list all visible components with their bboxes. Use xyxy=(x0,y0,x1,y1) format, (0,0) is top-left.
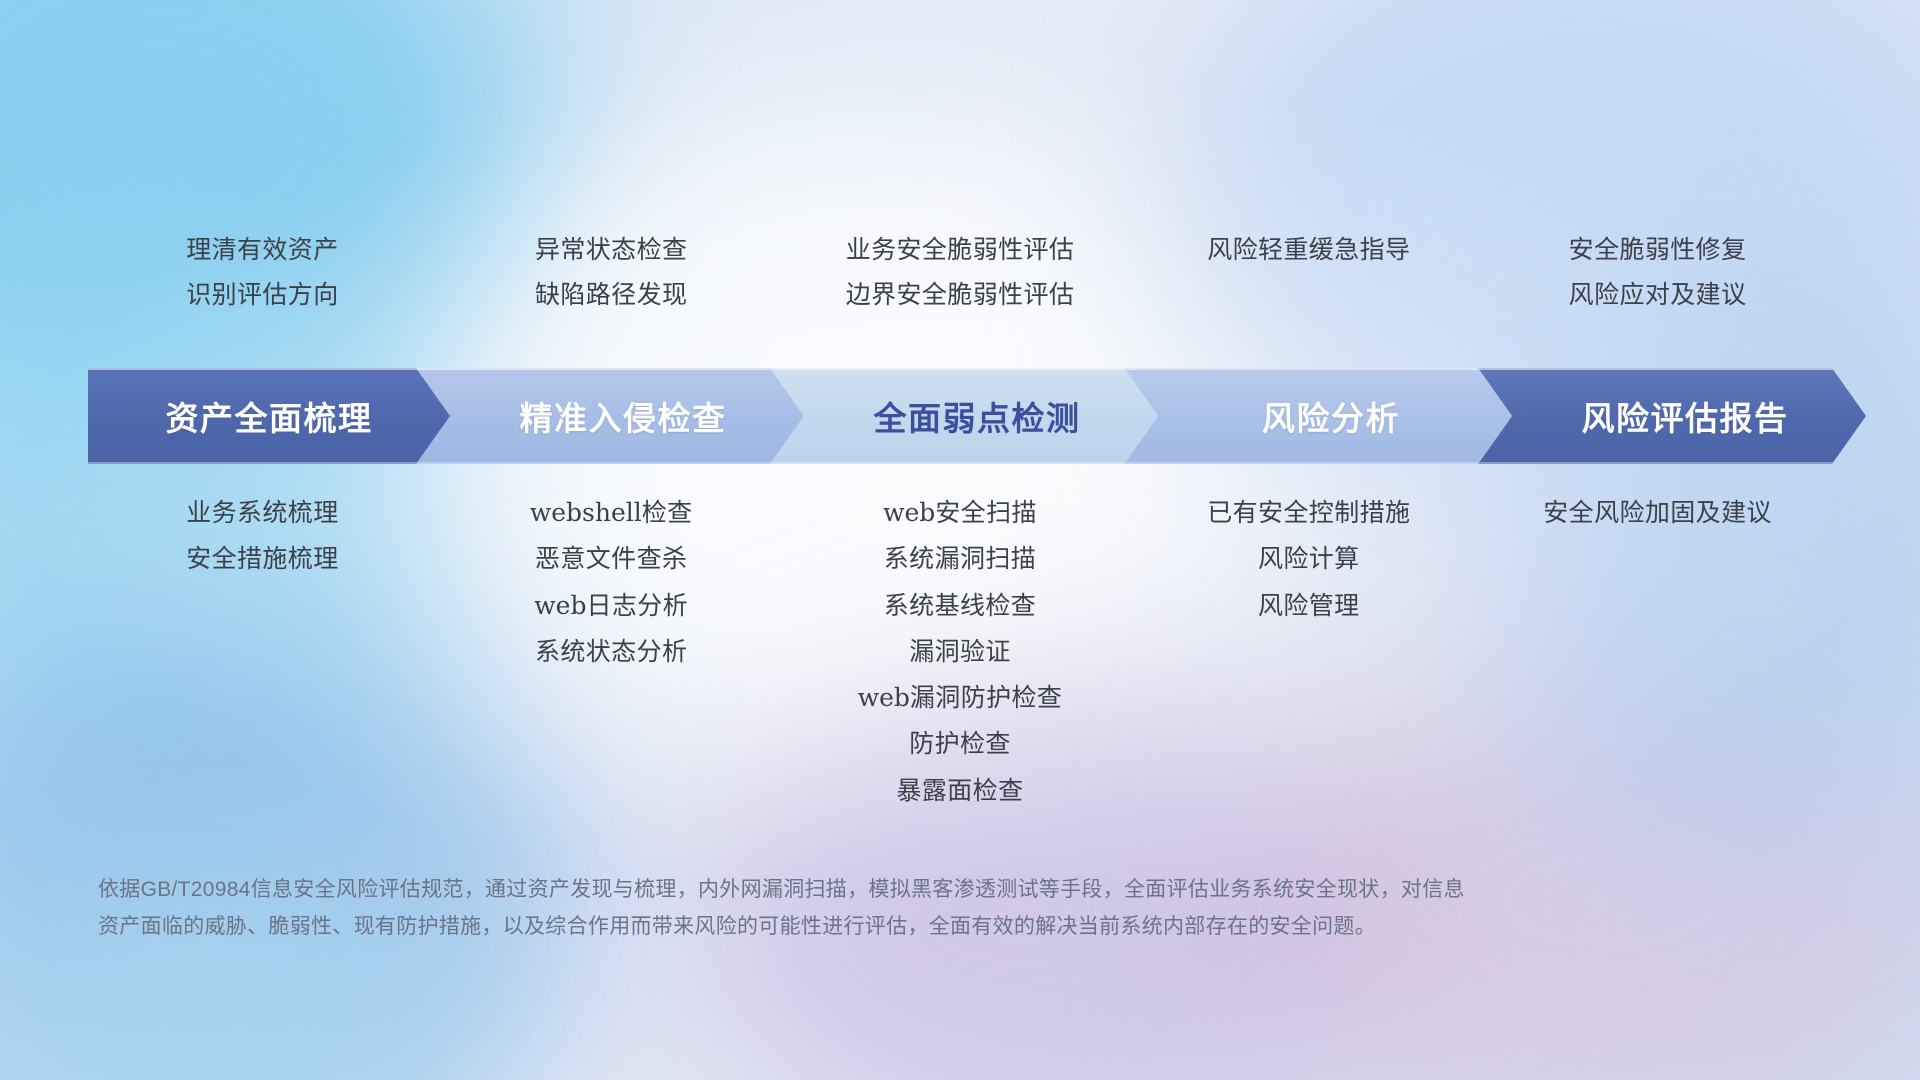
top-notes-column-asset-sorting: 理清有效资产识别评估方向 xyxy=(88,228,437,317)
detail-list-item: 已有安全控制措施 xyxy=(1207,490,1410,536)
chevron-stage-risk-report[interactable]: 风险评估报告 xyxy=(1478,368,1866,464)
top-notes-row: 理清有效资产识别评估方向异常状态检查缺陷路径发现业务安全脆弱性评估边界安全脆弱性… xyxy=(88,228,1832,317)
top-note: 缺陷路径发现 xyxy=(535,273,687,318)
chevron-stage-label: 资产全面梳理 xyxy=(166,392,373,440)
chevron-stage-weakness-detection[interactable]: 全面弱点检测 xyxy=(770,368,1158,464)
top-note: 异常状态检查 xyxy=(535,228,687,273)
footer-description: 依据GB/T20984信息安全风险评估规范，通过资产发现与梳理，内外网漏洞扫描，… xyxy=(98,872,1718,946)
top-note: 安全脆弱性修复 xyxy=(1569,228,1747,273)
detail-list-item: 业务系统梳理 xyxy=(186,490,338,536)
top-note: 理清有效资产 xyxy=(186,228,338,273)
detail-list-item: 安全措施梳理 xyxy=(186,536,338,582)
detail-list-item: 防护检查 xyxy=(909,721,1011,767)
detail-list-item: web日志分析 xyxy=(534,583,688,629)
top-note: 业务安全脆弱性评估 xyxy=(846,228,1075,273)
detail-list-risk-analysis: 已有安全控制措施风险计算风险管理 xyxy=(1134,490,1483,814)
process-chevron-band: 资产全面梳理精准入侵检查全面弱点检测风险分析风险评估报告 xyxy=(88,368,1832,464)
detail-list-item: web漏洞防护检查 xyxy=(858,675,1063,721)
chevron-stage-label: 风险分析 xyxy=(1262,392,1400,440)
top-notes-column-intrusion-check: 异常状态检查缺陷路径发现 xyxy=(437,228,786,317)
slide-canvas: 理清有效资产识别评估方向异常状态检查缺陷路径发现业务安全脆弱性评估边界安全脆弱性… xyxy=(0,0,1920,1080)
detail-list-item: webshell检查 xyxy=(530,490,693,536)
chevron-stage-label: 风险评估报告 xyxy=(1582,392,1789,440)
detail-list-item: 暴露面检查 xyxy=(896,768,1023,814)
detail-list-item: web安全扫描 xyxy=(883,490,1037,536)
chevron-stage-label: 全面弱点检测 xyxy=(874,392,1081,440)
detail-list-intrusion-check: webshell检查恶意文件查杀web日志分析系统状态分析 xyxy=(437,490,786,814)
detail-list-item: 系统漏洞扫描 xyxy=(884,536,1036,582)
top-notes-column-risk-report: 安全脆弱性修复风险应对及建议 xyxy=(1483,228,1832,317)
stage-detail-lists-row: 业务系统梳理安全措施梳理webshell检查恶意文件查杀web日志分析系统状态分… xyxy=(88,490,1832,814)
top-notes-column-risk-analysis: 风险轻重缓急指导 xyxy=(1134,228,1483,317)
chevron-stage-intrusion-check[interactable]: 精准入侵检查 xyxy=(416,368,804,464)
top-note: 风险应对及建议 xyxy=(1569,273,1747,318)
detail-list-item: 漏洞验证 xyxy=(909,629,1011,675)
detail-list-risk-report: 安全风险加固及建议 xyxy=(1483,490,1832,814)
footer-line-1: 依据GB/T20984信息安全风险评估规范，通过资产发现与梳理，内外网漏洞扫描，… xyxy=(98,872,1718,909)
top-note: 边界安全脆弱性评估 xyxy=(846,273,1075,318)
detail-list-item: 系统状态分析 xyxy=(535,629,687,675)
detail-list-weakness-detection: web安全扫描系统漏洞扫描系统基线检查漏洞验证web漏洞防护检查防护检查暴露面检… xyxy=(786,490,1135,814)
detail-list-item: 安全风险加固及建议 xyxy=(1543,490,1772,536)
footer-line-2: 资产面临的威胁、脆弱性、现有防护措施，以及综合作用而带来风险的可能性进行评估，全… xyxy=(98,909,1718,946)
detail-list-item: 系统基线检查 xyxy=(884,583,1036,629)
diagram-content: 理清有效资产识别评估方向异常状态检查缺陷路径发现业务安全脆弱性评估边界安全脆弱性… xyxy=(0,0,1920,1080)
chevron-stage-label: 精准入侵检查 xyxy=(520,392,727,440)
top-note: 识别评估方向 xyxy=(186,273,338,318)
detail-list-asset-sorting: 业务系统梳理安全措施梳理 xyxy=(88,490,437,814)
top-note: 风险轻重缓急指导 xyxy=(1207,228,1410,273)
top-notes-column-weakness-detection: 业务安全脆弱性评估边界安全脆弱性评估 xyxy=(786,228,1135,317)
detail-list-item: 风险计算 xyxy=(1258,536,1360,582)
chevron-stage-asset-sorting[interactable]: 资产全面梳理 xyxy=(88,368,450,464)
detail-list-item: 风险管理 xyxy=(1258,583,1360,629)
detail-list-item: 恶意文件查杀 xyxy=(535,536,687,582)
chevron-stage-risk-analysis[interactable]: 风险分析 xyxy=(1124,368,1512,464)
